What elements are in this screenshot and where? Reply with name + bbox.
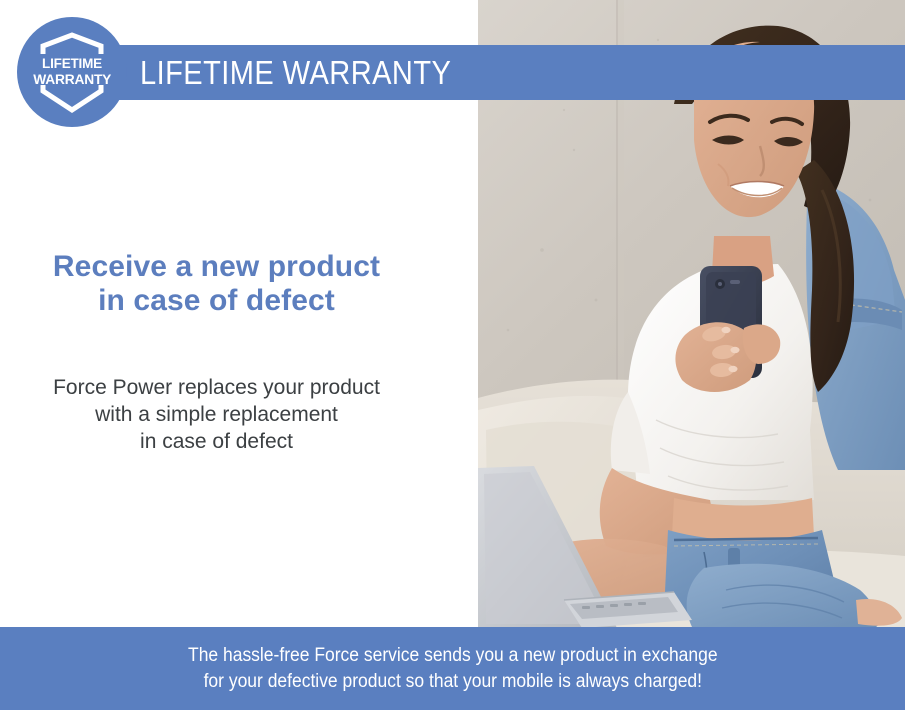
- badge-line-1: LIFETIME: [42, 56, 102, 72]
- body-line-1: Force Power replaces your product: [0, 374, 433, 401]
- footer-line-1: The hassle-free Force service sends you …: [188, 643, 718, 669]
- body-line-2: with a simple replacement: [0, 401, 433, 428]
- badge-text: LIFETIME WARRANTY: [17, 17, 127, 127]
- badge-line-2: WARRANTY: [33, 72, 111, 88]
- body-line-3: in case of defect: [0, 428, 433, 455]
- lifetime-warranty-banner: LIFETIME WARRANTY LIFETIME WARRANTY Rece…: [0, 0, 905, 710]
- body-copy: Force Power replaces your product with a…: [0, 318, 433, 455]
- headline-line-1: Receive a new product: [0, 250, 433, 284]
- header-bar: LIFETIME WARRANTY: [55, 45, 905, 100]
- headline: Receive a new product in case of defect: [0, 250, 433, 318]
- footer-line-2: for your defective product so that your …: [188, 669, 718, 695]
- headline-line-2: in case of defect: [0, 284, 433, 318]
- footer-banner: The hassle-free Force service sends you …: [0, 627, 905, 710]
- footer-text: The hassle-free Force service sends you …: [188, 643, 718, 695]
- page-title: LIFETIME WARRANTY: [140, 45, 451, 100]
- lifetime-warranty-badge: LIFETIME WARRANTY: [17, 17, 127, 127]
- copy-block: Receive a new product in case of defect …: [0, 250, 433, 455]
